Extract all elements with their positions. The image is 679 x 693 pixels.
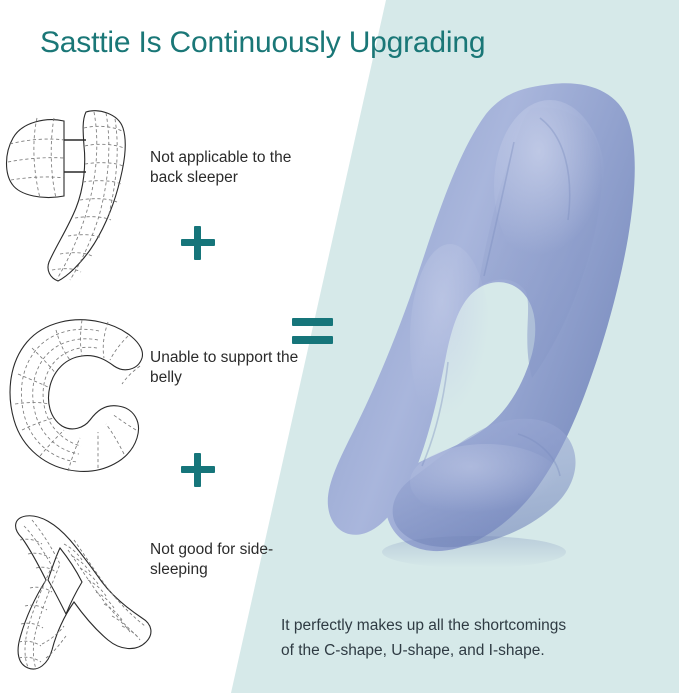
equals-icon [292,318,333,344]
drawback-note-c-shape: Unable to support the belly [150,348,320,388]
equals-bar-bottom [292,336,333,344]
caption-line-2: of the C-shape, U-shape, and I-shape. [281,638,671,663]
drawback-note-u-shape: Not good for side-sleeping [150,540,320,580]
infographic-canvas: Sasttie Is Continuously Upgrading [0,0,679,693]
product-photo-g-shape-pillow [318,78,679,598]
drop-shadow [382,536,566,568]
drawback-note-j-shape: Not applicable to the back sleeper [150,148,320,188]
highlight-bottom [410,444,562,520]
caption-line-1: It perfectly makes up all the shortcomin… [281,613,671,638]
j-shape-pillow-illustration [2,88,152,283]
c-shape-pillow-illustration [4,300,149,475]
highlight-mid [410,244,490,436]
plus-icon [181,453,215,487]
highlight-top [494,100,606,272]
equals-bar-top [292,318,333,326]
product-caption: It perfectly makes up all the shortcomin… [281,613,671,663]
plus-icon [181,226,215,260]
u-shape-pillow-illustration [2,492,157,674]
page-title: Sasttie Is Continuously Upgrading [40,26,640,60]
